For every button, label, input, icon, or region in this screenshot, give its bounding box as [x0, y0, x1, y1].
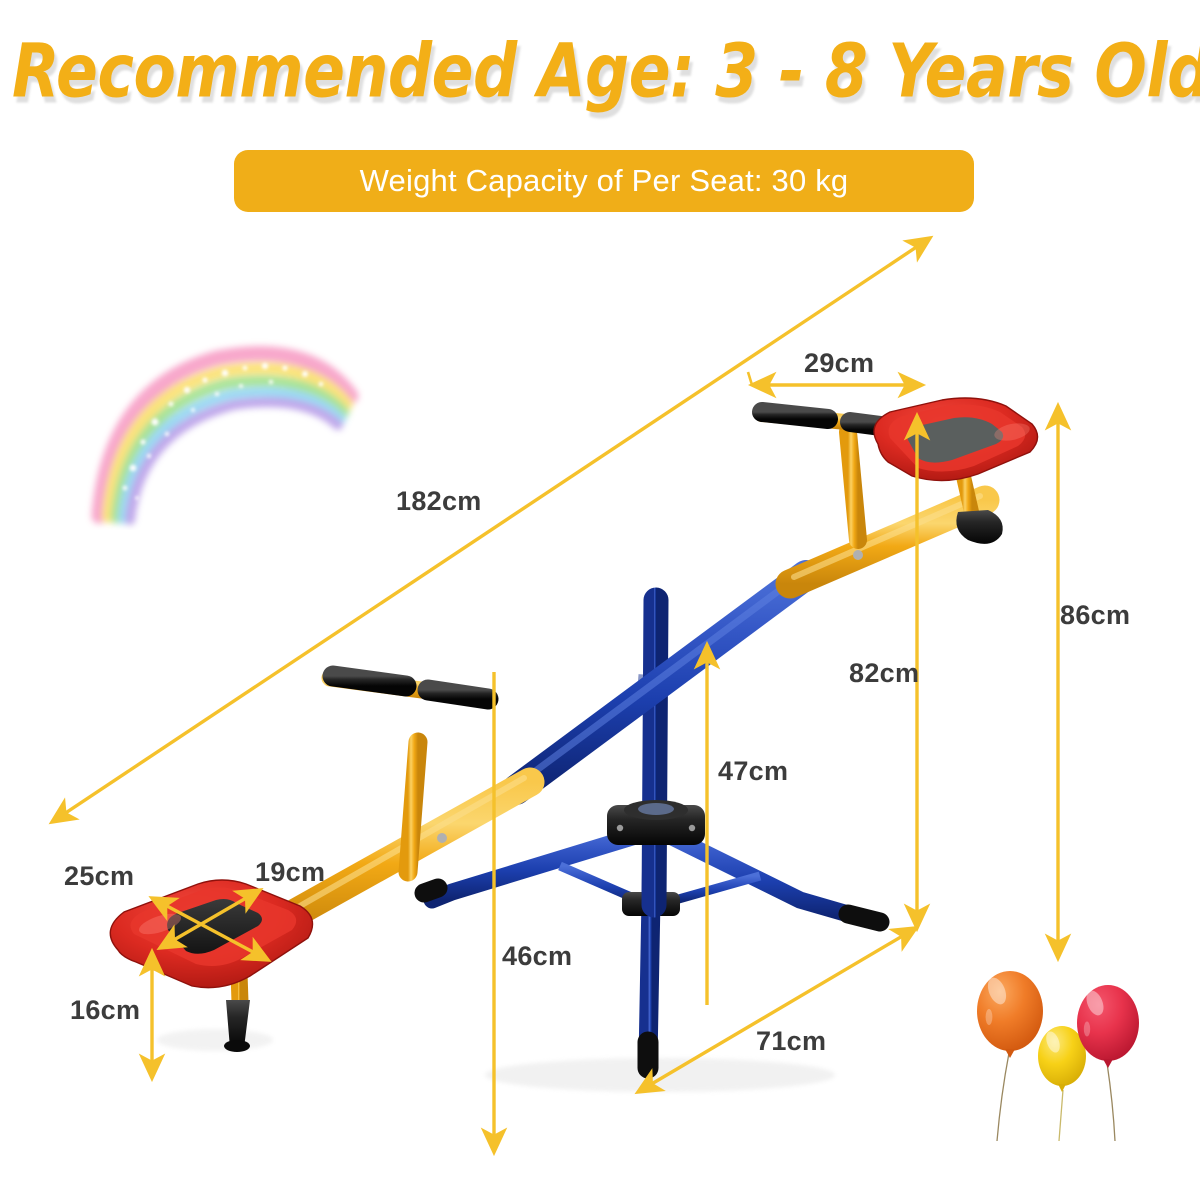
- left-handle-post: [408, 742, 418, 872]
- right-handle-post: [848, 432, 858, 540]
- label-pivot-height: 47cm: [718, 756, 788, 787]
- beam-yellow-right-highlight: [794, 496, 980, 577]
- center-post: [654, 600, 656, 905]
- balloon-string-yellow: [1059, 1090, 1063, 1141]
- right-grip-outer: [762, 412, 828, 419]
- beam-yellow-left-highlight: [272, 778, 524, 922]
- base-foot-left: [424, 888, 438, 893]
- label-base-width: 71cm: [756, 1026, 826, 1057]
- label-overall-height: 86cm: [1060, 600, 1130, 631]
- left-foot-shadow: [157, 1029, 273, 1051]
- base-foot-right: [848, 914, 880, 922]
- left-grip-inner: [428, 690, 488, 699]
- rainbow-arc: [75, 330, 365, 530]
- beam-bolt-left: [437, 833, 447, 843]
- product-dimension-infographic: Recommended Age: 3 - 8 Years Old Weight …: [0, 0, 1200, 1200]
- label-left-seat-height: 16cm: [70, 995, 140, 1026]
- left-seat: [110, 880, 312, 988]
- balloons-decoration: [965, 955, 1160, 1145]
- main-beam-yellow-left: [265, 782, 530, 930]
- label-seat-to-handle: 29cm: [804, 348, 874, 379]
- ground-shadow: [485, 1058, 835, 1092]
- right-seat: [874, 398, 1038, 481]
- balloon-string-orange: [997, 1053, 1009, 1141]
- balloon-orange: [977, 971, 1043, 1058]
- beam-bolt-right: [853, 550, 863, 560]
- balloon-yellow: [1038, 1026, 1086, 1092]
- left-grip-outer: [333, 676, 406, 686]
- label-seat-diagonal-short: 19cm: [255, 857, 325, 888]
- base-brace-right: [668, 876, 760, 902]
- label-total-length: 182cm: [396, 486, 482, 517]
- main-beam-yellow-right: [790, 500, 985, 584]
- balloon-string-red: [1107, 1063, 1115, 1141]
- swivel-clamp: [607, 800, 705, 845]
- tick-29-left: [748, 372, 752, 385]
- right-footrest-pad: [956, 510, 1002, 544]
- left-foot-tip: [224, 1040, 250, 1052]
- arrow-total-length: [52, 238, 930, 822]
- balloon-red: [1077, 985, 1139, 1068]
- label-seat-diagonal-long: 25cm: [64, 861, 134, 892]
- label-base-clearance: 46cm: [502, 941, 572, 972]
- label-right-seat-height: 82cm: [849, 658, 919, 689]
